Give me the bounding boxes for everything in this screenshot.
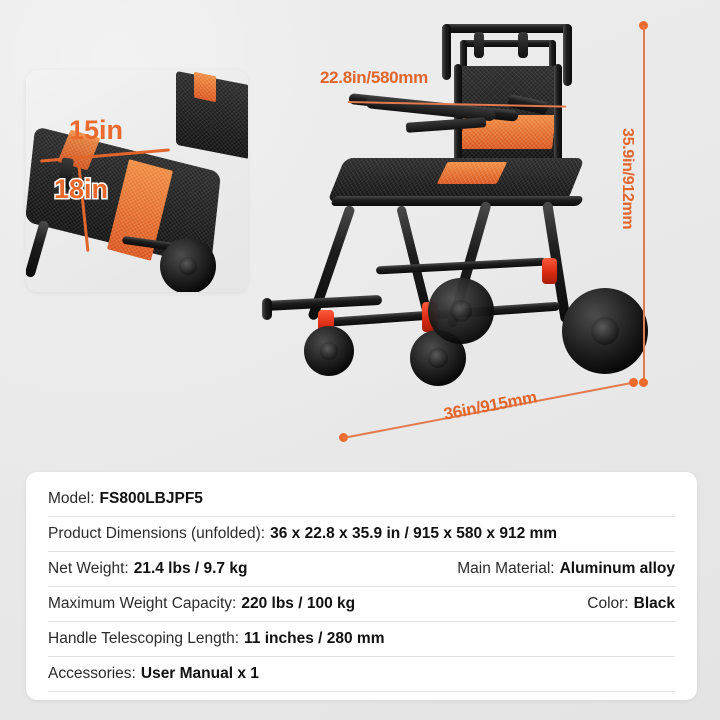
spec-value-color: Black xyxy=(634,595,675,613)
spec-label-handle-length: Handle Telescoping Length: xyxy=(48,630,239,648)
spec-value-handle-length: 11 inches / 280 mm xyxy=(244,630,384,648)
caster-hub-mid xyxy=(428,348,448,368)
spec-value-model: FS800LBJPF5 xyxy=(100,490,203,508)
spec-row-handle-length: Handle Telescoping Length: 11 inches / 2… xyxy=(48,622,675,657)
height-line-bottom-dot xyxy=(639,378,648,387)
wheelchair-illustration xyxy=(246,10,666,420)
rear-hub-inner xyxy=(450,300,472,322)
handle-post-left xyxy=(442,24,451,80)
spec-label-max-weight: Maximum Weight Capacity: xyxy=(48,595,236,613)
inset-wheel xyxy=(160,238,216,292)
spec-row-net-weight: Net Weight: 21.4 lbs / 9.7 kg Main Mater… xyxy=(48,552,675,587)
caster-hub-left xyxy=(320,342,338,360)
spec-row-dimensions: Product Dimensions (unfolded): 36 x 22.8… xyxy=(48,517,675,552)
spec-label-model: Model: xyxy=(48,490,95,508)
backrest-frame-right xyxy=(554,64,562,168)
spec-value-accessories: User Manual x 1 xyxy=(141,665,259,683)
seat-orange-stripe xyxy=(437,162,508,184)
spec-label-accessories: Accessories: xyxy=(48,665,136,683)
inset-frame-left xyxy=(26,220,50,279)
brake-lever-red xyxy=(542,258,557,284)
spec-value-net-weight: 21.4 lbs / 9.7 kg xyxy=(134,560,248,578)
inset-seat-width-label: 15in xyxy=(69,115,123,146)
spec-row-accessories: Accessories: User Manual x 1 xyxy=(48,657,675,692)
spec-row-model: Model: FS800LBJPF5 xyxy=(48,482,675,517)
rear-wheel-inner xyxy=(428,278,494,344)
product-spec-page: 22.8in/580mm 35.9in/912mm 36in/915mm xyxy=(0,0,720,720)
push-handle-bar xyxy=(442,24,572,33)
inset-backrest-orange xyxy=(194,72,216,103)
width-dimension-label: 22.8in/580mm xyxy=(320,68,428,88)
footrest-end-cap xyxy=(262,298,272,320)
specifications-panel: Model: FS800LBJPF5 Product Dimensions (u… xyxy=(26,472,697,700)
footrest-bar xyxy=(262,295,382,311)
spec-label-net-weight: Net Weight: xyxy=(48,560,129,578)
inset-wheel-hub xyxy=(179,257,197,275)
handle-grip-left xyxy=(474,32,484,58)
inset-seat-depth-label: 18in xyxy=(54,174,108,205)
spec-label-color: Color: xyxy=(587,595,628,613)
spec-value-dimensions: 36 x 22.8 x 35.9 in / 915 x 580 x 912 mm xyxy=(270,525,557,543)
spec-label-dimensions: Product Dimensions (unfolded): xyxy=(48,525,265,543)
height-dimension-label: 35.9in/912mm xyxy=(618,128,636,229)
spec-value-main-material: Aluminum alloy xyxy=(560,560,675,578)
rear-hub-right xyxy=(591,317,619,345)
rear-wheel-right xyxy=(562,288,648,374)
seat-detail-inset: 15in 18in xyxy=(26,70,248,292)
caster-wheel-left xyxy=(304,326,354,376)
product-image-stage: 22.8in/580mm 35.9in/912mm 36in/915mm xyxy=(0,0,720,460)
spec-label-main-material: Main Material: xyxy=(457,560,554,578)
spec-row-max-weight: Maximum Weight Capacity: 220 lbs / 100 k… xyxy=(48,587,675,622)
spec-value-max-weight: 220 lbs / 100 kg xyxy=(241,595,355,613)
handle-grip-right xyxy=(518,32,528,58)
height-dimension-line xyxy=(643,25,645,382)
handle-post-right xyxy=(563,24,572,86)
length-line-right-dot xyxy=(629,378,638,387)
